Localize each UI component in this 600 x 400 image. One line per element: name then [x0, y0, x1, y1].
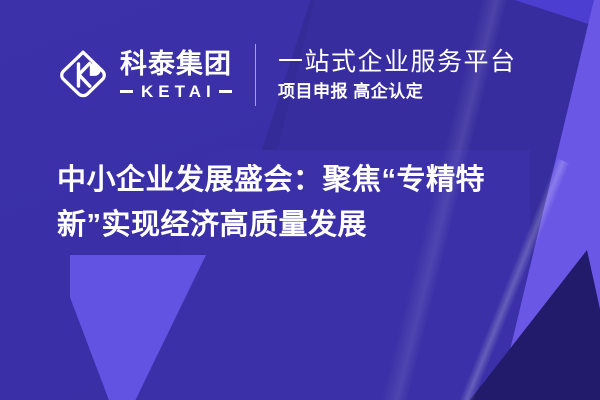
brand-name-en-row: KETAI [120, 83, 232, 100]
background-shape-left-dark [0, 230, 70, 400]
promo-banner: 科泰集团 KETAI 一站式企业服务平台 项目申报 高企认定 中小企业发展盛会：… [0, 0, 600, 400]
tagline-sub: 项目申报 高企认定 [278, 82, 517, 102]
banner-header: 科泰集团 KETAI 一站式企业服务平台 项目申报 高企认定 [0, 34, 600, 116]
tagline-main: 一站式企业服务平台 [278, 48, 517, 76]
vertical-divider-icon [255, 44, 256, 106]
brand-logo-text: 科泰集团 KETAI [120, 50, 232, 99]
page-title: 中小企业发展盛会：聚焦“专精特新”实现经济高质量发展 [57, 158, 557, 248]
dash-left-icon [120, 90, 133, 93]
brand-logo[interactable]: 科泰集团 KETAI [57, 49, 232, 101]
brand-name-en: KETAI [139, 83, 216, 100]
brand-name-cn: 科泰集团 [120, 50, 232, 78]
ketai-diamond-kt-monogram-icon [57, 49, 109, 101]
dash-right-icon [219, 90, 232, 93]
tagline: 一站式企业服务平台 项目申报 高企认定 [278, 48, 517, 102]
